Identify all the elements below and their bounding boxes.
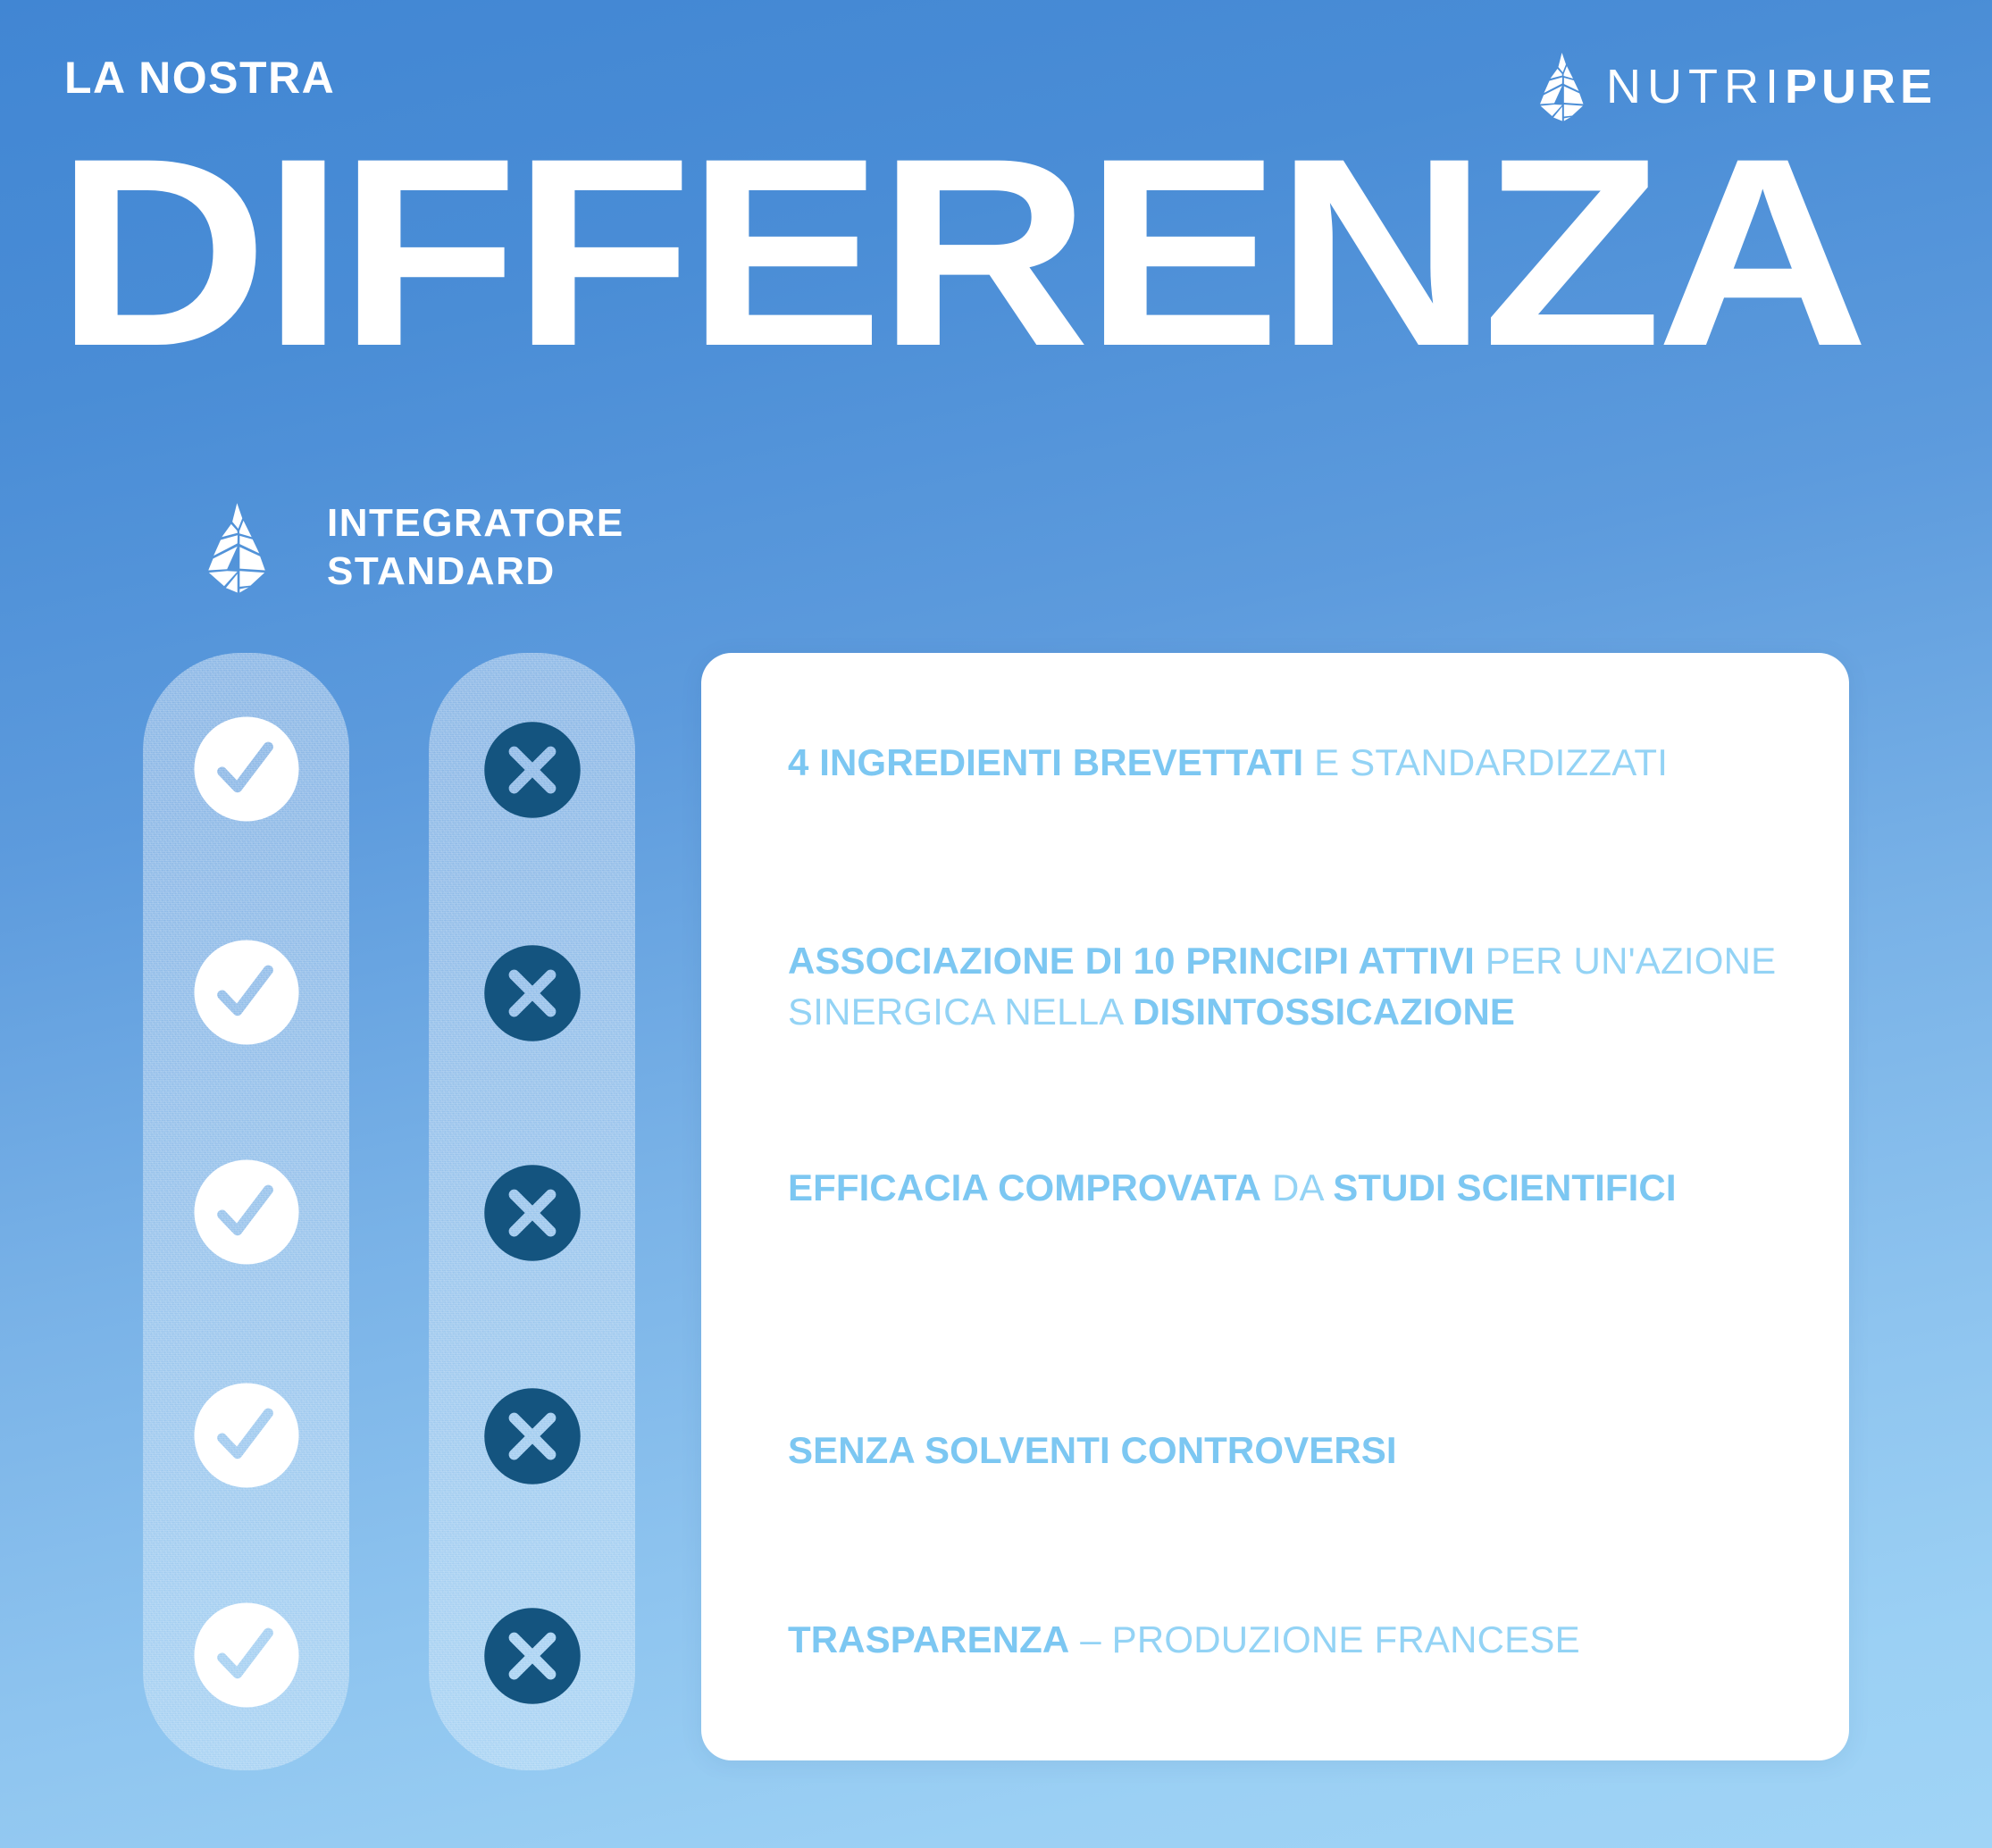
check-circle-icon [143, 1158, 349, 1267]
feature-emphasis: SENZA SOLVENTI CONTROVERSI [788, 1429, 1397, 1471]
x-circle-icon [429, 1606, 635, 1706]
feature-detail: – PRODUZIONE FRANCESE [1069, 1618, 1579, 1660]
feature-detail: DA [1261, 1166, 1333, 1208]
feature-emphasis: 4 INGREDIENTI BREVETTATI [788, 741, 1303, 783]
standard-supplement-label: INTEGRATORE STANDARD [327, 499, 624, 595]
x-circle-icon [429, 1386, 635, 1486]
feature-emphasis: ASSOCIAZIONE DI 10 PRINCIPI ATTIVI [788, 940, 1475, 982]
page-title: DIFFERENZA [55, 134, 1992, 371]
infographic-poster: LA NOSTRA NUTRIPURE DIFFERENZA [0, 0, 1992, 1848]
eyebrow-text: LA NOSTRA [64, 55, 335, 100]
feature-card: 4 INGREDIENTI BREVETTATI E STANDARDIZZAT… [701, 653, 1849, 1760]
feature-emphasis-2: DISINTOSSICAZIONE [1133, 991, 1515, 1033]
feature-list: 4 INGREDIENTI BREVETTATI E STANDARDIZZAT… [788, 737, 1788, 1684]
check-circle-icon [143, 715, 349, 824]
check-circle-icon [143, 1601, 349, 1710]
x-circle-icon [429, 943, 635, 1043]
feature-item: EFFICACIA COMPROVATA DA STUDI SCIENTIFIC… [788, 1162, 1788, 1213]
feature-emphasis: TRASPARENZA [788, 1618, 1069, 1660]
feature-item: 4 INGREDIENTI BREVETTATI E STANDARDIZZAT… [788, 737, 1788, 788]
x-circle-icon [429, 720, 635, 820]
feature-emphasis-2: STUDI SCIENTIFICI [1333, 1166, 1676, 1208]
comparison-column-header: INTEGRATORE STANDARD [204, 481, 624, 615]
feature-item: ASSOCIAZIONE DI 10 PRINCIPI ATTIVI PER U… [788, 935, 1788, 1037]
check-circle-icon [143, 938, 349, 1047]
feature-item: SENZA SOLVENTI CONTROVERSI [788, 1425, 1788, 1476]
x-circle-icon [429, 1163, 635, 1263]
feature-detail: E STANDARDIZZATI [1303, 741, 1668, 783]
feature-emphasis: EFFICACIA COMPROVATA [788, 1166, 1261, 1208]
feature-item: TRASPARENZA – PRODUZIONE FRANCESE [788, 1614, 1788, 1665]
check-circle-icon [143, 1381, 349, 1490]
faceted-leaf-icon [204, 481, 272, 615]
